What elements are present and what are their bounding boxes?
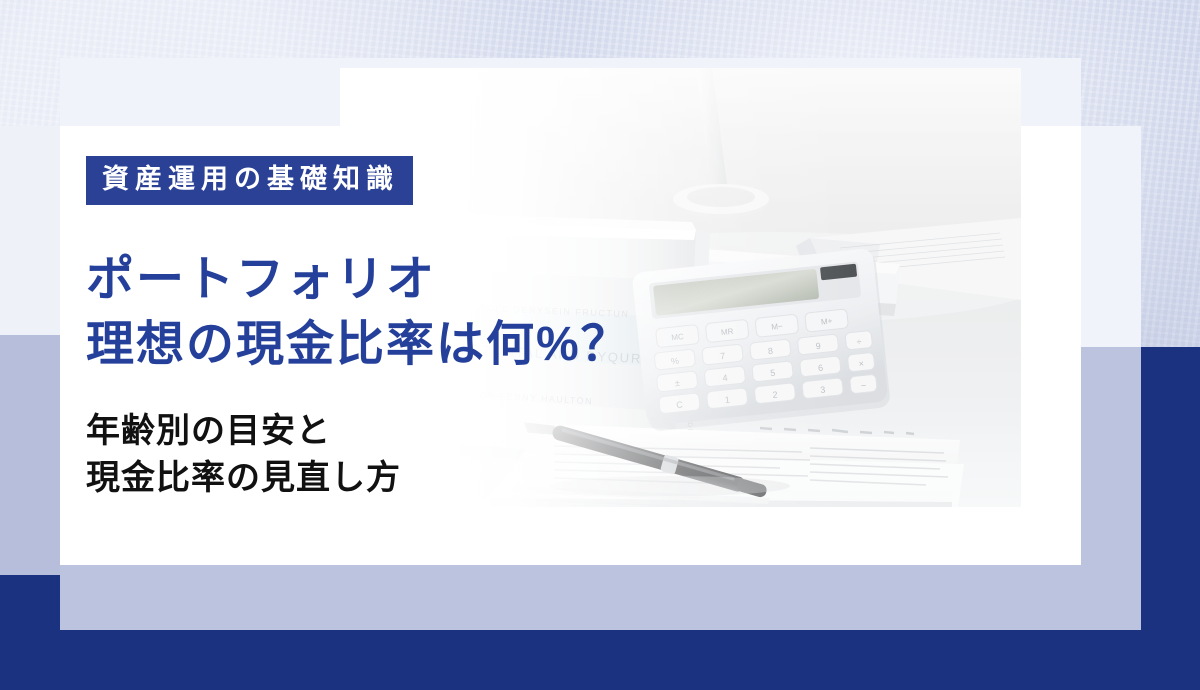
- backdrop-navy-right-block: [1141, 347, 1200, 690]
- page-subtitle-line-1: 年齢別の目安と: [86, 408, 786, 456]
- page-title-line-1: ポートフォリオ: [86, 247, 786, 312]
- backdrop-left-periwinkle-block: [0, 335, 60, 575]
- backdrop-navy-left-block: [0, 575, 60, 690]
- page-title-line-2: 理想の現金比率は何%？: [86, 312, 786, 377]
- banner-canvas: DR FERNY HAULTON F·T THIRD ED RIZONTAL A…: [0, 0, 1200, 690]
- page-subtitle-line-2: 現金比率の見直し方: [86, 455, 786, 503]
- banner-text-block: 資産運用の基礎知識 ポートフォリオ 理想の現金比率は何%？ 年齢別の目安と 現金…: [86, 156, 786, 503]
- backdrop-navy-bottom-band: [0, 630, 1200, 690]
- backdrop-left-light-block: [0, 126, 60, 335]
- category-badge: 資産運用の基礎知識: [86, 156, 413, 205]
- backdrop-bottom-periwinkle-panel: [60, 565, 1141, 630]
- page-title: ポートフォリオ 理想の現金比率は何%？: [86, 247, 786, 378]
- page-subtitle: 年齢別の目安と 現金比率の見直し方: [86, 408, 786, 503]
- backdrop-right-light-panel: [1081, 126, 1141, 347]
